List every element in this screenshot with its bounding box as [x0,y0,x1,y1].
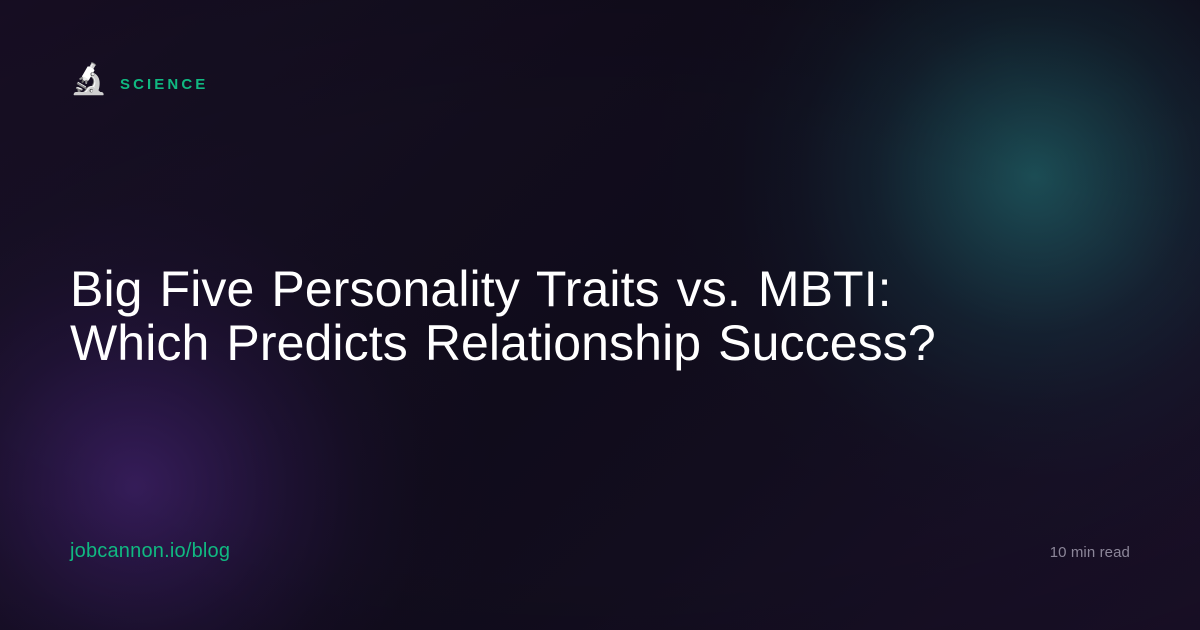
read-time-label: 10 min read [1050,540,1130,566]
open-graph-card: 🔬 SCIENCE Big Five Personality Traits vs… [0,0,1200,630]
microscope-icon: 🔬 [70,65,108,103]
category-badge: 🔬 SCIENCE [70,62,208,106]
card-footer: jobcannon.io/blog 10 min read [70,538,1130,570]
card-content: 🔬 SCIENCE Big Five Personality Traits vs… [0,0,1200,630]
site-url[interactable]: jobcannon.io/blog [70,538,230,564]
page-title: Big Five Personality Traits vs. MBTI: Wh… [70,262,1030,370]
category-label: SCIENCE [120,76,208,93]
